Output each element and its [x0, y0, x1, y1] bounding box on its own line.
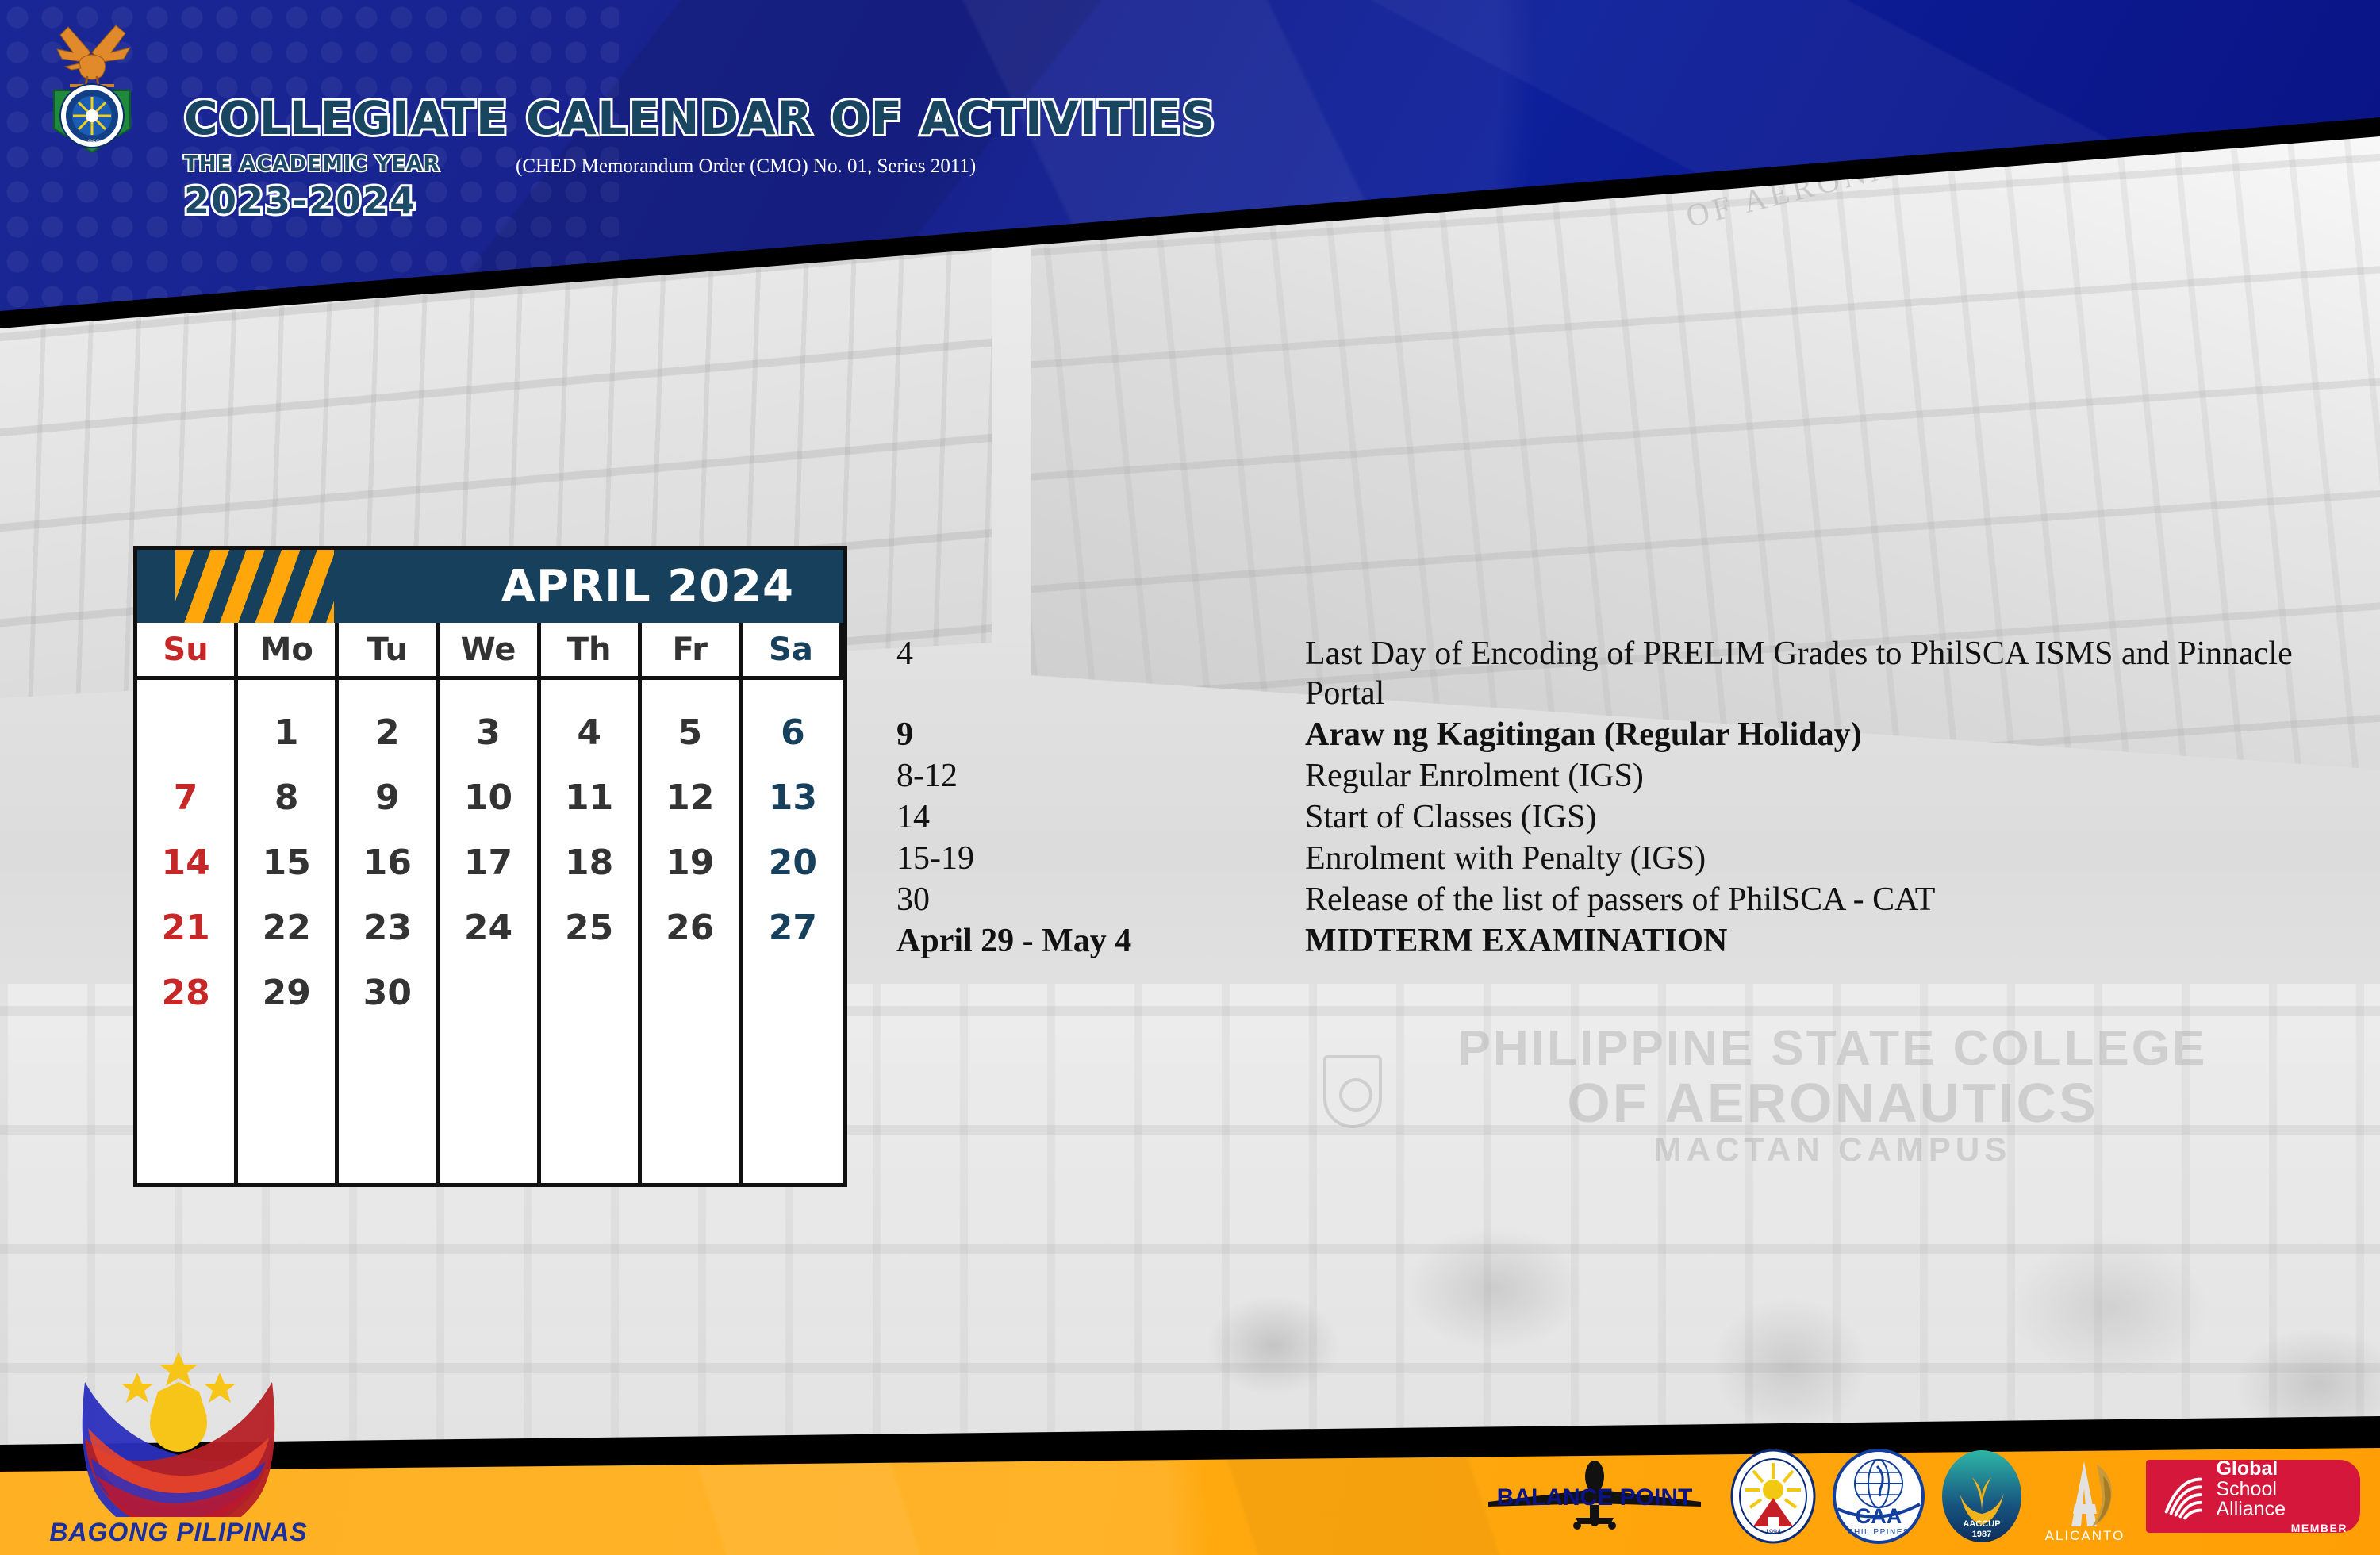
- caa-sub: PHILIPPINES: [1848, 1528, 1910, 1537]
- events-list: 4Last Day of Encoding of PRELIM Grades t…: [896, 635, 2324, 963]
- alicanto-label: ALICANTO: [2038, 1528, 2132, 1544]
- event-row: 14Start of Classes (IGS): [896, 798, 2324, 838]
- calendar-day-cell[interactable]: 3: [476, 701, 501, 766]
- balance-point-label: BALANCE POINT: [1497, 1484, 1693, 1511]
- academic-year-value: 2023-2024: [184, 179, 1216, 222]
- calendar-day-cell[interactable]: 14: [161, 831, 209, 896]
- event-date: April 29 - May 4: [896, 922, 1305, 962]
- day-header-fr: Fr: [642, 623, 743, 680]
- aaccup-logo-icon: AACCUP 1987: [1940, 1449, 2024, 1544]
- calendar-day-cell[interactable]: 11: [565, 766, 613, 831]
- calendar-day-cell[interactable]: 27: [769, 896, 817, 961]
- day-column-fr: 5121926: [642, 680, 743, 1183]
- wall-signage-watermark: PHILIPPINE STATE COLLEGE OF AERONAUTICS …: [1285, 1023, 2380, 1206]
- calendar-stripes-icon: [175, 550, 334, 623]
- gsa-line-2: School Alliance: [2216, 1480, 2347, 1520]
- event-row: April 29 - May 4MIDTERM EXAMINATION: [896, 922, 2324, 962]
- day-header-sa: Sa: [743, 623, 843, 680]
- calendar-day-cell[interactable]: 17: [464, 831, 512, 896]
- calendar-day-cell[interactable]: 6: [781, 701, 805, 766]
- calendar-day-cell[interactable]: 13: [769, 766, 817, 831]
- day-header-tu: Tu: [339, 623, 440, 680]
- day-header-su: Su: [137, 623, 238, 680]
- calendar-day-cell[interactable]: 7: [174, 766, 198, 831]
- day-column-mo: 18152229: [238, 680, 339, 1183]
- calendar-day-cell[interactable]: 20: [769, 831, 817, 896]
- event-date: 4: [896, 635, 1305, 674]
- ched-logo-icon: 1994: [1729, 1449, 1817, 1544]
- calendar-month-title: APRIL 2024: [501, 561, 843, 612]
- day-column-tu: 29162330: [339, 680, 440, 1183]
- day-column-sa: 6132027: [743, 680, 843, 1183]
- day-column-su: 7142128: [137, 680, 238, 1183]
- global-school-alliance-logo: Global School Alliance MEMBER: [2146, 1460, 2360, 1533]
- event-date: 15-19: [896, 839, 1305, 879]
- event-row: 9Araw ng Kagitingan (Regular Holiday): [896, 716, 2324, 755]
- day-header-we: We: [440, 623, 540, 680]
- bagong-pilipinas-label: BAGONG PILIPINAS: [44, 1518, 313, 1547]
- calendar-day-cell[interactable]: 4: [577, 701, 601, 766]
- signage-line-3: MACTAN CAMPUS: [1285, 1132, 2380, 1167]
- calendar-day-cell[interactable]: 5: [678, 701, 702, 766]
- event-description: Enrolment with Penalty (IGS): [1305, 839, 1706, 879]
- calendar-day-cell[interactable]: 2: [375, 701, 400, 766]
- alicanto-logo: ALICANTO: [2038, 1452, 2132, 1541]
- calendar-day-cell[interactable]: 23: [363, 896, 412, 961]
- event-date: 8-12: [896, 757, 1305, 797]
- caa-label: CAA: [1856, 1504, 1902, 1528]
- gsa-swoosh-icon: [2159, 1471, 2208, 1522]
- calendar-day-cell[interactable]: 8: [274, 766, 299, 831]
- calendar-day-cell[interactable]: 9: [375, 766, 400, 831]
- event-description: Release of the list of passers of PhilSC…: [1305, 881, 1935, 920]
- event-description: MIDTERM EXAMINATION: [1305, 922, 1727, 962]
- calendar-day-cell[interactable]: 26: [666, 896, 714, 961]
- balance-point-logo: BALANCE POINT: [1476, 1459, 1714, 1534]
- calendar-card: APRIL 2024 Su Mo Tu We Th Fr Sa 7142128 …: [133, 546, 847, 1187]
- event-date: 9: [896, 716, 1305, 755]
- philsca-crest-icon: 1969: [33, 17, 151, 154]
- page-title: COLLEGIATE CALENDAR OF ACTIVITIES: [184, 95, 1216, 141]
- aaccup-year: 1987: [1972, 1530, 1991, 1539]
- event-description: Araw ng Kagitingan (Regular Holiday): [1305, 716, 1862, 755]
- calendar-day-cell[interactable]: 15: [263, 831, 311, 896]
- gsa-text-block: Global School Alliance MEMBER: [2216, 1459, 2347, 1534]
- day-column-we: 3101724: [440, 680, 540, 1183]
- event-description: Last Day of Encoding of PRELIM Grades to…: [1305, 635, 2324, 714]
- gsa-line-3: MEMBER: [2216, 1522, 2347, 1534]
- calendar-day-cell[interactable]: 25: [565, 896, 613, 961]
- calendar-header: APRIL 2024: [137, 550, 843, 623]
- event-description: Start of Classes (IGS): [1305, 798, 1596, 838]
- calendar-day-cell[interactable]: 10: [464, 766, 512, 831]
- day-column-th: 4111825: [541, 680, 642, 1183]
- alicanto-icon: [2038, 1452, 2132, 1531]
- event-row: 4Last Day of Encoding of PRELIM Grades t…: [896, 635, 2324, 714]
- gsa-line-1: Global: [2216, 1459, 2347, 1480]
- calendar-day-cell[interactable]: 28: [161, 961, 209, 1026]
- calendar-day-cell[interactable]: 21: [161, 896, 209, 961]
- caa-logo-icon: CAA PHILIPPINES: [1831, 1449, 1926, 1544]
- calendar-day-cell[interactable]: 24: [464, 896, 512, 961]
- day-header-mo: Mo: [238, 623, 339, 680]
- svg-text:1969: 1969: [84, 138, 100, 146]
- calendar-day-cell[interactable]: 18: [565, 831, 613, 896]
- calendar-grid: Su Mo Tu We Th Fr Sa 7142128 18152229 29…: [137, 623, 843, 1183]
- aaccup-label: AACCUP: [1963, 1519, 2000, 1529]
- event-date: 14: [896, 798, 1305, 838]
- calendar-day-cell[interactable]: 1: [274, 701, 299, 766]
- event-row: 15-19Enrolment with Penalty (IGS): [896, 839, 2324, 879]
- event-date: 30: [896, 881, 1305, 920]
- calendar-day-cell[interactable]: 30: [363, 961, 412, 1026]
- cmo-reference: (CHED Memorandum Order (CMO) No. 01, Ser…: [516, 155, 976, 178]
- calendar-day-cell[interactable]: 12: [666, 766, 714, 831]
- calendar-day-cell[interactable]: 22: [263, 896, 311, 961]
- accreditation-logo-row: 1994 CAA PHILIPPINES AACCUP 1987: [1729, 1449, 2360, 1544]
- event-row: 8-12Regular Enrolment (IGS): [896, 757, 2324, 797]
- event-description: Regular Enrolment (IGS): [1305, 757, 1644, 797]
- signage-line-2: OF AERONAUTICS: [1285, 1074, 2380, 1132]
- bagong-pilipinas-logo: BAGONG PILIPINAS: [44, 1334, 313, 1547]
- calendar-day-cell[interactable]: 16: [363, 831, 412, 896]
- signage-line-1: PHILIPPINE STATE COLLEGE: [1285, 1023, 2380, 1074]
- event-row: 30Release of the list of passers of Phil…: [896, 881, 2324, 920]
- day-header-th: Th: [541, 623, 642, 680]
- calendar-day-cell[interactable]: 29: [263, 961, 311, 1026]
- ched-year: 1994: [1765, 1528, 1781, 1536]
- calendar-day-cell[interactable]: 19: [666, 831, 714, 896]
